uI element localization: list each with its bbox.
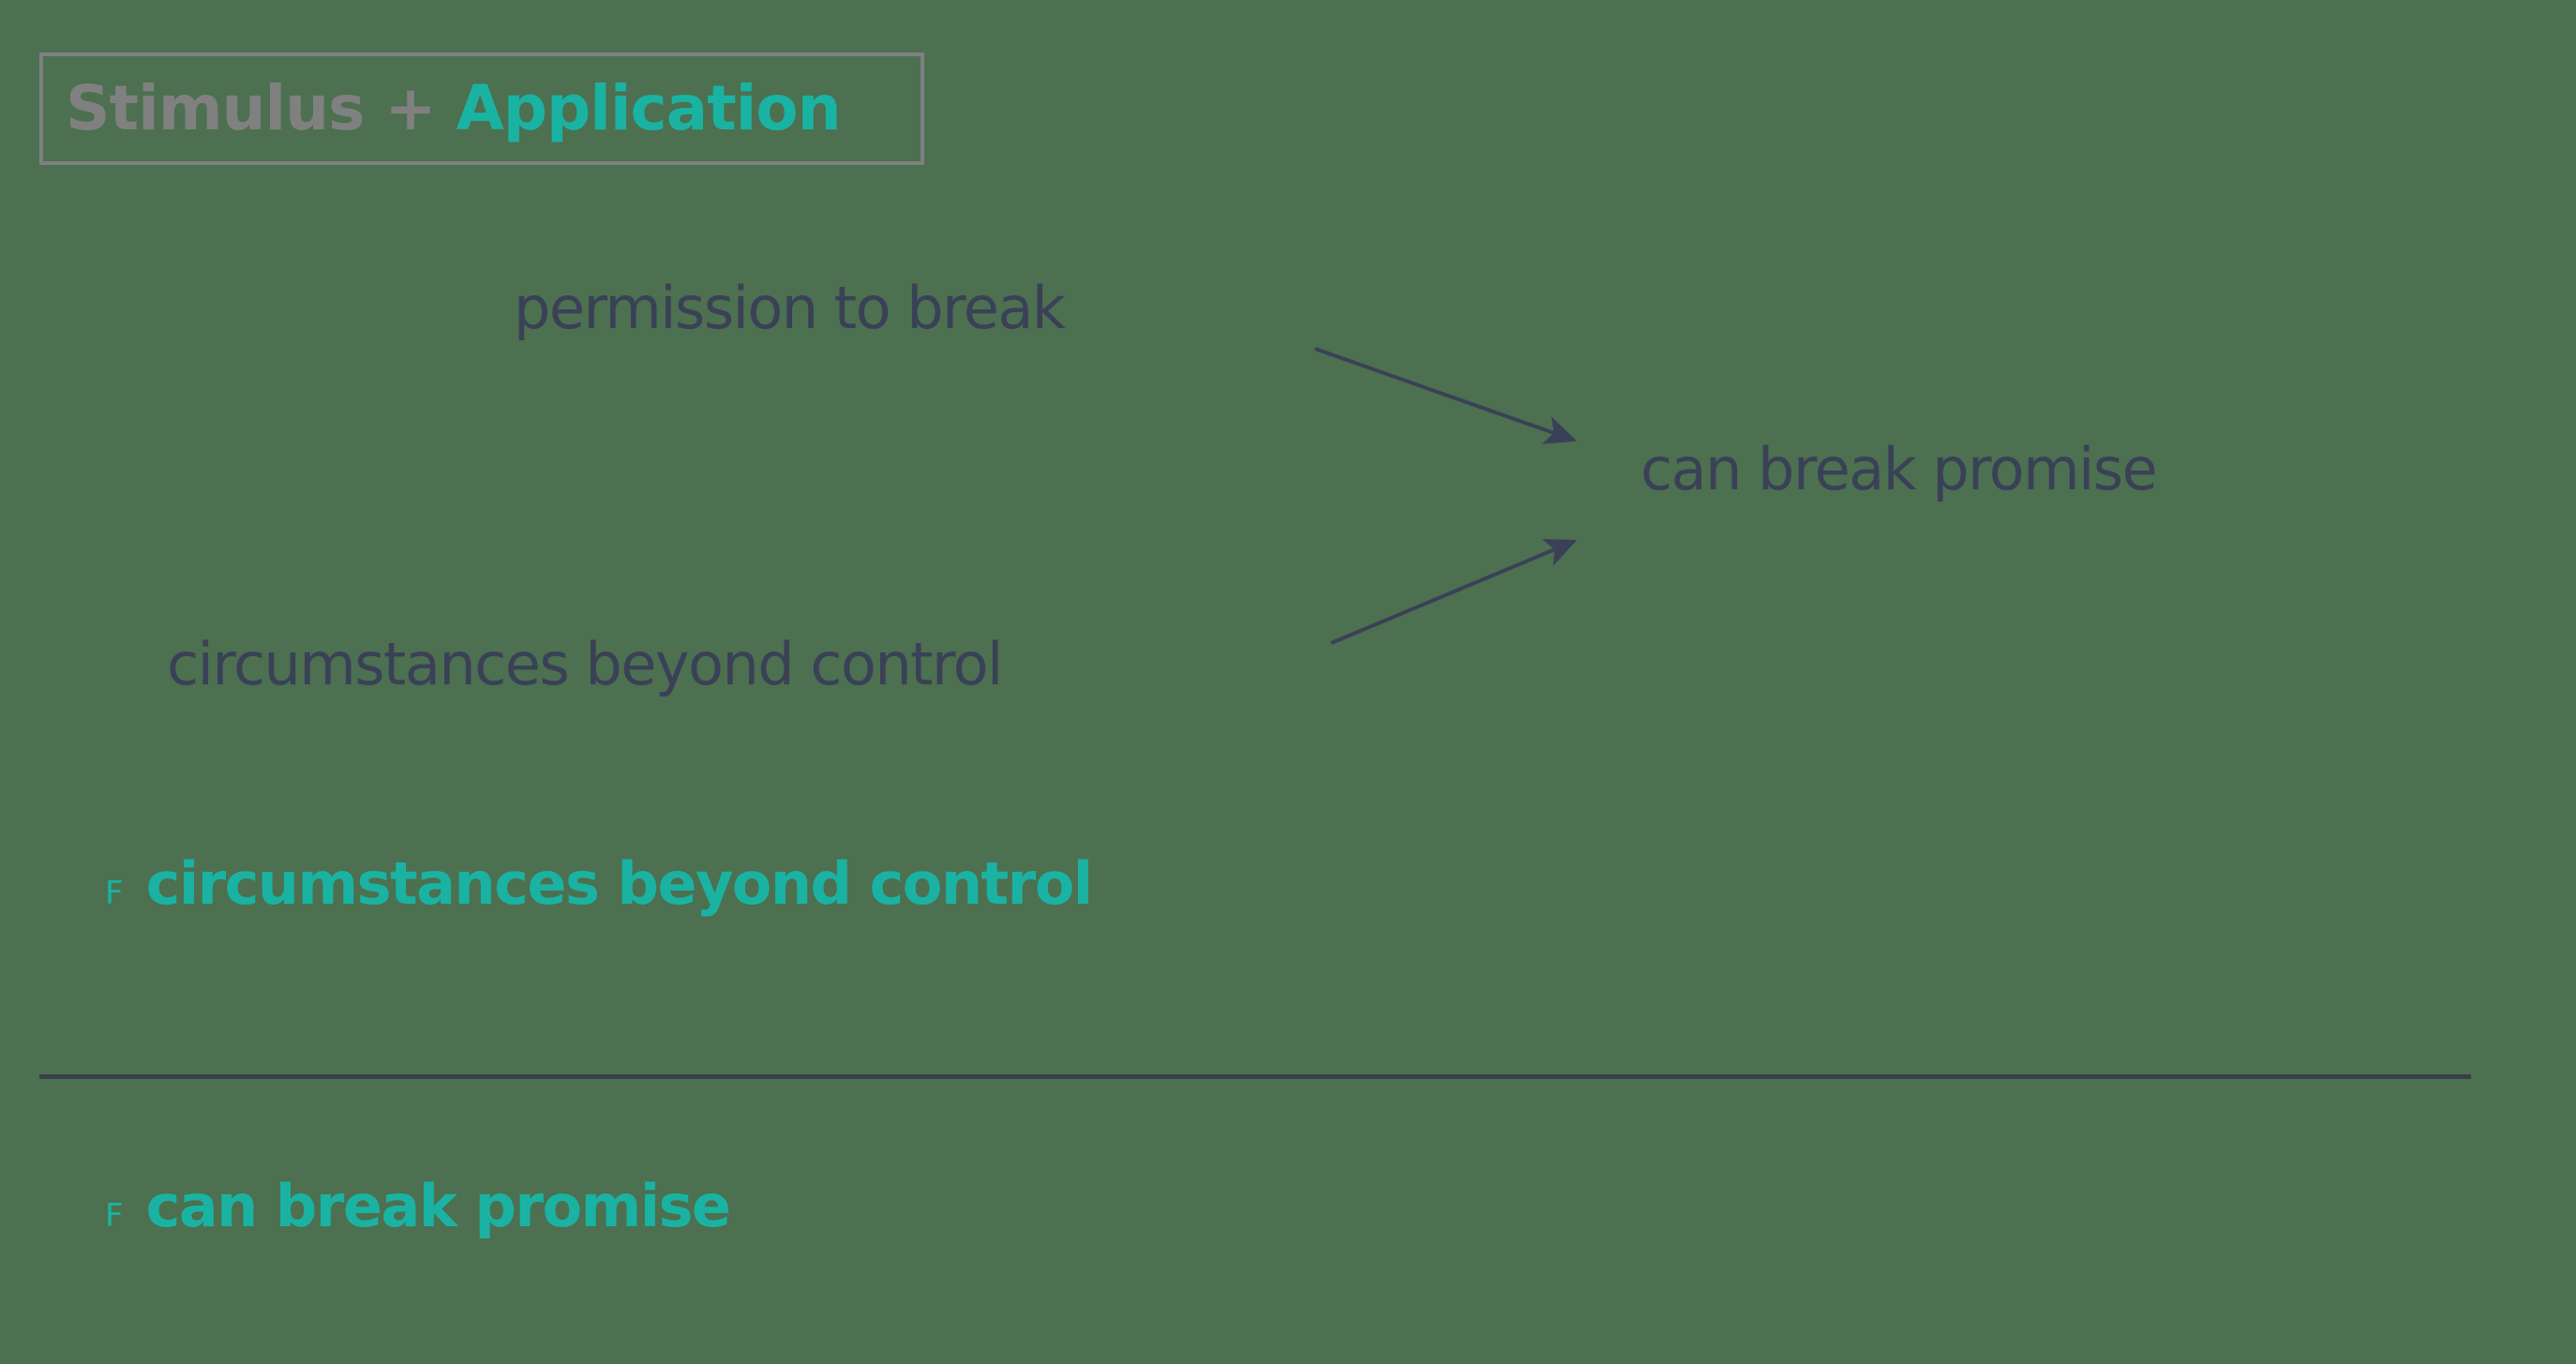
arrow-circumstances-to-result xyxy=(1331,542,1572,643)
label-permission-to-break: permission to break xyxy=(514,279,1064,337)
arrow-permission-to-result xyxy=(1315,349,1572,440)
header-separator xyxy=(364,72,384,144)
feature-label: circumstances beyond control xyxy=(146,855,1092,913)
header-title: Stimulus + Application xyxy=(66,78,841,140)
feature-prefix-icon: F xyxy=(105,877,124,909)
label-circumstances-beyond-control: circumstances beyond control xyxy=(167,636,1002,694)
header-part-one: Stimulus xyxy=(66,72,364,144)
diagram-canvas: Stimulus + Application permission to bre… xyxy=(0,0,2576,1364)
section-divider xyxy=(39,1074,2471,1079)
header-plus-symbol: + xyxy=(384,72,435,144)
label-can-break-promise: can break promise xyxy=(1640,441,2156,499)
header-part-two: Application xyxy=(457,72,841,144)
feature-row-can-break-promise: F can break promise xyxy=(105,1177,729,1236)
header-space-two xyxy=(436,72,457,144)
feature-label: can break promise xyxy=(146,1177,730,1236)
feature-prefix-icon: F xyxy=(105,1200,124,1232)
header-badge: Stimulus + Application xyxy=(39,52,924,165)
feature-row-circumstances: F circumstances beyond control xyxy=(105,855,1092,913)
